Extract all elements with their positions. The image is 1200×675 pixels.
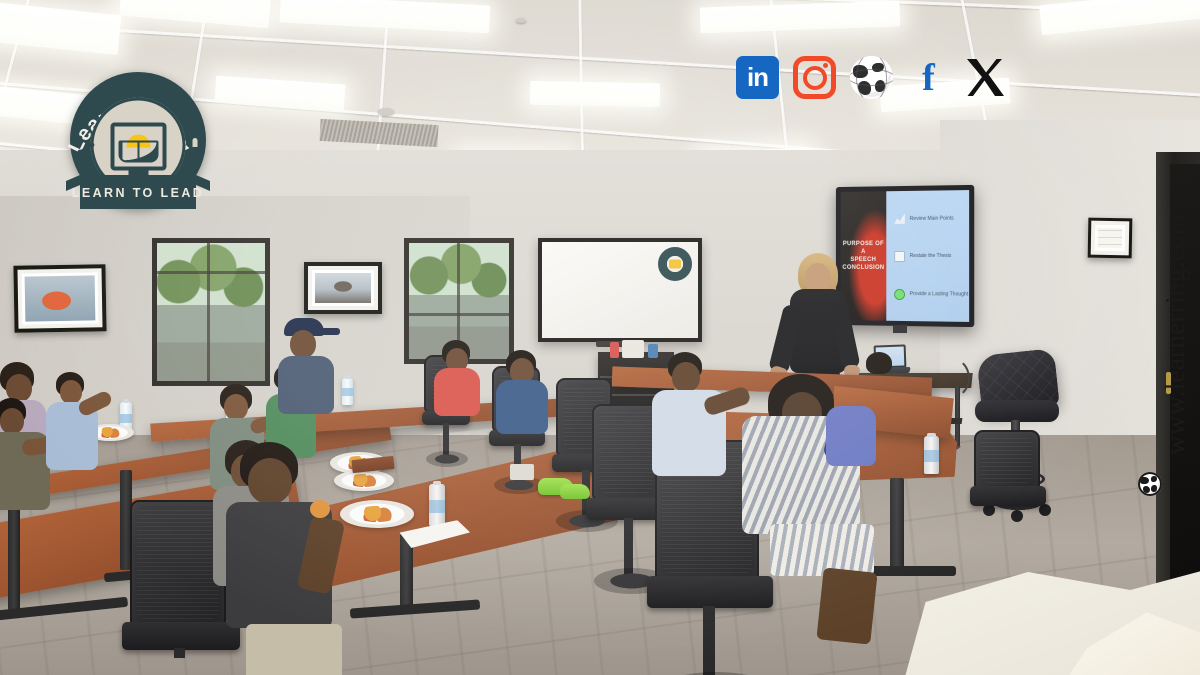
linkedin-label: in [736,56,779,99]
smoke-detector-icon [378,108,394,115]
chart-icon [894,213,905,224]
facebook-icon[interactable]: f [907,56,950,99]
paper-plate[interactable] [340,500,414,528]
green-dot-icon [894,289,905,300]
water-bottle[interactable] [342,378,353,405]
website-url: www.learnerring.com [1160,214,1191,455]
slide-content: PURPOSE OF A SPEECH CONCLUSION Review Ma… [841,190,969,322]
slide-bullet-text: Review Main Points [910,215,954,221]
logo-banner: LEARN TO LEAD [62,175,214,215]
network-node-icon [76,134,96,156]
food-item [310,500,330,518]
water-bottle[interactable] [429,484,445,526]
globe-icon [1138,472,1162,496]
whiteboard [538,238,702,342]
slide-bullet: Review Main Points [894,213,968,225]
facebook-label: f [922,56,935,100]
framed-certificate [1088,218,1133,259]
exterior-window-left [152,238,270,386]
framed-helicopter-photo [13,264,106,333]
open-book-icon [118,140,158,162]
desk-supplies [610,342,619,358]
slide-title-panel: PURPOSE OF A SPEECH CONCLUSION [841,191,886,320]
logo-tagline: LEARN TO LEAD [62,186,214,200]
presentation-display: PURPOSE OF A SPEECH CONCLUSION Review Ma… [836,185,974,327]
sneaker [560,484,590,499]
framed-osprey-photo [304,262,382,314]
document-icon [894,251,905,262]
table-leg [890,478,904,574]
slide-title: PURPOSE OF A SPEECH CONCLUSION [842,240,884,272]
slide-bullet: Restate the Thesis [894,251,968,262]
table-leg [8,500,20,610]
learnerring-logo: LearneRRing LEARN TO LEAD [62,72,214,217]
smoke-detector-icon [516,18,526,23]
classroom-photo-scene: PURPOSE OF A SPEECH CONCLUSION Review Ma… [0,0,1200,675]
ceiling-light-panel [530,81,660,107]
tv-wall-mount [893,325,907,333]
water-bottle[interactable] [924,436,939,474]
slide-bullet-panel: Review Main Points Restate the Thesis Pr… [886,190,974,322]
whiteboard-logo-icon [658,247,692,281]
linkedin-icon[interactable]: in [736,56,779,99]
social-icons-row: in f [736,56,1007,99]
desk-supplies [648,344,658,358]
cap-brim [318,328,340,335]
slide-bullet-text: Restate the Thesis [910,253,952,259]
monitor-icon [110,122,166,170]
desk-supplies [622,340,644,358]
slide-bullet-text: Provide a Lasting Thought [910,291,968,298]
box [510,464,534,480]
slide-bullet: Provide a Lasting Thought [894,289,968,301]
globe-icon[interactable] [850,56,893,99]
instagram-icon[interactable] [793,56,836,99]
x-twitter-icon[interactable] [964,56,1007,99]
paper-plate[interactable] [334,470,394,491]
